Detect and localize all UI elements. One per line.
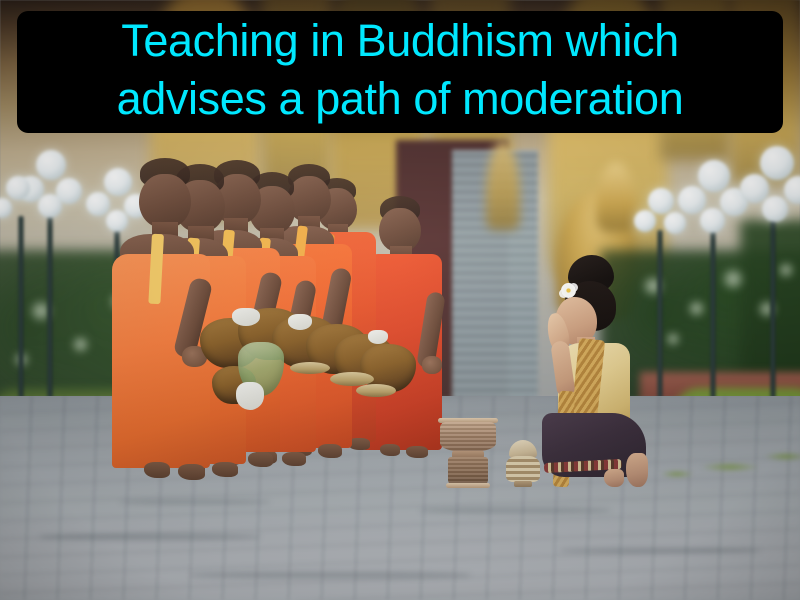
pavement-streak [560, 548, 760, 553]
pavement-streak [40, 534, 260, 540]
street-lamp [682, 160, 744, 430]
street-lamp [744, 146, 800, 426]
hair-flower [561, 283, 576, 298]
alms-white-package [368, 330, 388, 344]
pavement-streak [120, 500, 270, 504]
grass-sprig [764, 452, 800, 461]
pavement-streak [190, 572, 470, 578]
monk-foot [248, 452, 273, 467]
caption-line-2: advises a path of moderation [117, 70, 684, 128]
kneeling-woman [530, 255, 660, 490]
foot [626, 453, 648, 487]
monk-foot [318, 444, 342, 458]
caption-line-1: Teaching in Buddhism which [121, 12, 678, 70]
monk-foot [282, 452, 306, 466]
monk-foot [406, 446, 428, 458]
alms-white-package [232, 308, 260, 326]
alms-bowl-lid [290, 362, 330, 374]
offering-pedestal-bowl [438, 418, 498, 488]
street-lamp [0, 176, 42, 416]
grass-sprig [660, 470, 694, 478]
monk-foot [144, 462, 170, 478]
caption-banner: Teaching in Buddhism which advises a pat… [17, 11, 783, 133]
grass-sprig [700, 462, 760, 472]
alms-white-bag [236, 382, 264, 410]
monk-foot [380, 444, 400, 456]
pavement-streak [420, 508, 610, 513]
screenshot-root: Teaching in Buddhism which advises a pat… [0, 0, 800, 600]
monk-standing [120, 158, 216, 480]
foot [604, 469, 624, 487]
alms-bowl-lid [356, 384, 396, 397]
alms-white-package [288, 314, 312, 330]
monk-foot [178, 464, 205, 480]
